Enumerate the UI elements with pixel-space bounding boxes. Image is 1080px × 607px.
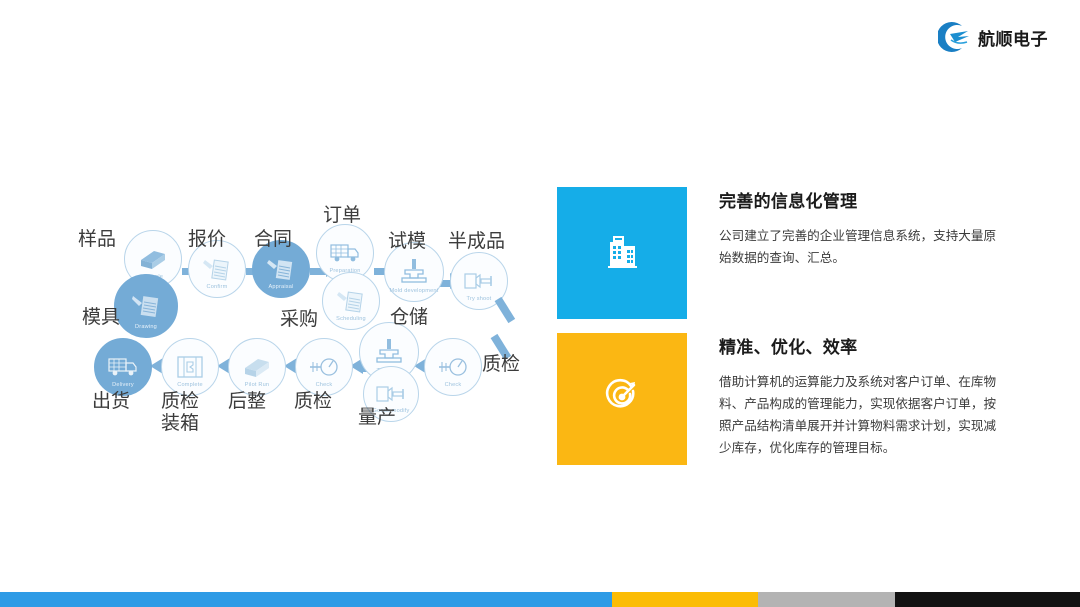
flow-node-delivery: Delivery bbox=[94, 338, 152, 396]
flow-node-en-label: Appraisal bbox=[253, 284, 309, 290]
flow-node-en-label: Check bbox=[296, 382, 352, 388]
flow-node-check-mid: Check bbox=[295, 338, 353, 396]
flow-label-sample: 样品 bbox=[78, 230, 116, 250]
feature-body: 借助计算机的运算能力及系统对客户订单、在库物料、产品构成的管理能力，实现依据客户… bbox=[719, 371, 999, 459]
flow-label-qc-mid: 质检 bbox=[294, 392, 332, 412]
brand-name: 航顺电子 bbox=[978, 25, 1048, 50]
target-icon bbox=[602, 377, 642, 422]
flow-label-qc-pack-1: 质检 bbox=[161, 392, 199, 412]
flow-node-complete: Complete bbox=[161, 338, 219, 396]
brand-logo: 航顺电子 bbox=[938, 20, 1048, 54]
flow-node-en-label: Drawing bbox=[115, 324, 177, 330]
flow-node-drawing: Drawing bbox=[114, 274, 178, 338]
flow-node-en-label: Delivery bbox=[95, 382, 151, 388]
feature-title: 精准、优化、效率 bbox=[719, 333, 999, 358]
feature-text-block: 精准、优化、效率 借助计算机的运算能力及系统对客户订单、在库物料、产品构成的管理… bbox=[719, 333, 999, 459]
feature-icon-tile-amber bbox=[557, 333, 687, 465]
flow-label-semi-finished: 半成品 bbox=[448, 232, 505, 252]
footer-bar-blue bbox=[0, 592, 612, 607]
flow-node-en-label: Mold development bbox=[385, 288, 443, 294]
feature-block-information-management: 完善的信息化管理 公司建立了完善的企业管理信息系统，支持大量原始数据的查询、汇总… bbox=[557, 187, 999, 319]
flow-label-trial-mold: 试模 bbox=[388, 232, 426, 252]
footer-bar-yellow bbox=[612, 592, 758, 607]
flow-label-warehouse: 仓储 bbox=[390, 308, 428, 328]
footer-bar-black bbox=[895, 592, 1080, 607]
flow-node-scheduling: Scheduling bbox=[322, 272, 380, 330]
flow-label-qc-pack-2: 装箱 bbox=[161, 414, 199, 434]
feature-text-block: 完善的信息化管理 公司建立了完善的企业管理信息系统，支持大量原始数据的查询、汇总… bbox=[719, 187, 999, 269]
building-icon bbox=[604, 232, 640, 275]
flow-node-en-label: Complete bbox=[162, 382, 218, 388]
feature-body: 公司建立了完善的企业管理信息系统，支持大量原始数据的查询、汇总。 bbox=[719, 225, 999, 269]
flow-label-quote: 报价 bbox=[188, 230, 226, 250]
flow-label-mass-production: 量产 bbox=[358, 408, 396, 428]
feature-block-precision-optimization-efficiency: 精准、优化、效率 借助计算机的运算能力及系统对客户订单、在库物料、产品构成的管理… bbox=[557, 333, 999, 465]
flow-label-delivery: 出货 bbox=[92, 392, 130, 412]
flow-node-pilot-run: Pilot Run bbox=[228, 338, 286, 396]
swoosh-arrow-icon bbox=[938, 20, 972, 54]
flow-label-qc-right: 质检 bbox=[482, 355, 520, 375]
feature-icon-tile-blue bbox=[557, 187, 687, 319]
flow-label-order: 订单 bbox=[323, 206, 361, 226]
flow-node-en-label: Confirm bbox=[189, 284, 245, 290]
flow-node-en-label: Check bbox=[425, 382, 481, 388]
slide-root: 航顺电子 Sample bbox=[0, 0, 1080, 607]
process-flow-diagram: Sample Drawing bbox=[78, 180, 548, 475]
flow-node-check-right: Check bbox=[424, 338, 482, 396]
flow-label-contract: 合同 bbox=[254, 230, 292, 250]
flow-label-purchase: 采购 bbox=[280, 310, 318, 330]
flow-label-post-process: 后整 bbox=[228, 392, 266, 412]
footer-bar-gray bbox=[758, 592, 895, 607]
flow-node-en-label: Scheduling bbox=[323, 316, 379, 322]
flow-node-en-label: Pilot Run bbox=[229, 382, 285, 388]
flow-label-mold: 模具 bbox=[82, 308, 120, 328]
feature-title: 完善的信息化管理 bbox=[719, 187, 999, 212]
